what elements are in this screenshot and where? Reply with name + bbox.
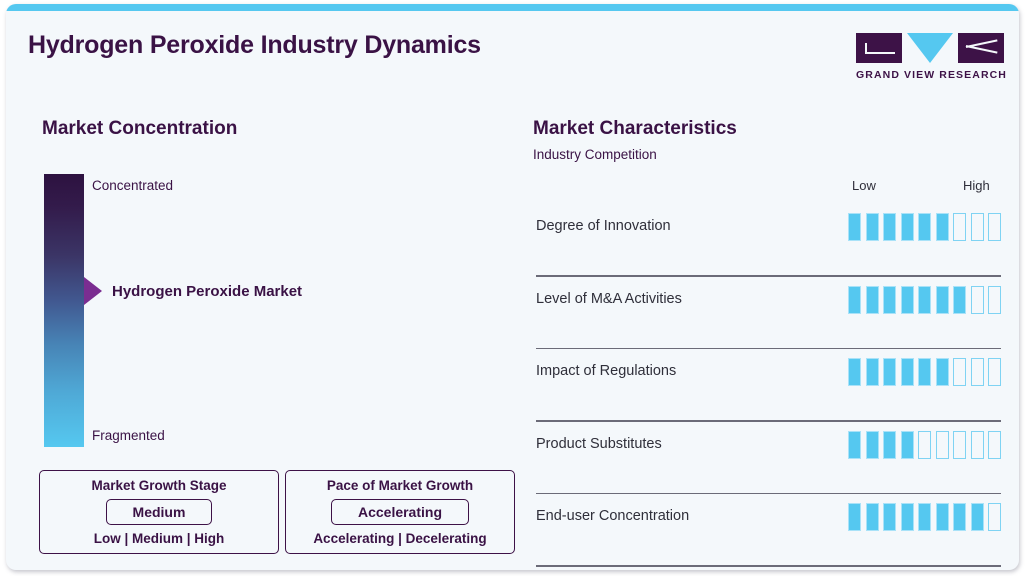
- characteristic-row: Degree of Innovation: [536, 204, 1001, 277]
- rating-meter: [848, 213, 1001, 241]
- rating-segment-filled: [901, 358, 914, 386]
- rating-segment-filled: [866, 213, 879, 241]
- rating-segment-filled: [848, 286, 861, 314]
- characteristic-row: Product Substitutes: [536, 422, 1001, 495]
- page-title: Hydrogen Peroxide Industry Dynamics: [28, 31, 481, 60]
- rating-segment-empty: [953, 358, 966, 386]
- infographic-card: Hydrogen Peroxide Industry Dynamics GRAN…: [6, 4, 1019, 570]
- characteristic-row: Impact of Regulations: [536, 349, 1001, 422]
- characteristic-row: Level of M&A Activities: [536, 277, 1001, 350]
- characteristic-row: End-user Concentration: [536, 494, 1001, 567]
- rating-segment-filled: [918, 286, 931, 314]
- rating-meter: [848, 431, 1001, 459]
- rating-segment-filled: [883, 431, 896, 459]
- axis-label-high: High: [963, 178, 990, 193]
- rating-segment-empty: [988, 286, 1001, 314]
- rating-segment-empty: [953, 431, 966, 459]
- rating-meter: [848, 358, 1001, 386]
- logo-marks: [856, 33, 1004, 63]
- rating-segment-filled: [918, 503, 931, 531]
- rating-segment-empty: [971, 213, 984, 241]
- concentration-gradient-scale: [44, 174, 84, 447]
- rating-segment-filled: [918, 358, 931, 386]
- growth-stage-heading: Market Growth Stage: [91, 478, 226, 493]
- rating-segment-filled: [848, 358, 861, 386]
- market-characteristics-subtitle: Industry Competition: [533, 147, 657, 162]
- pace-heading: Pace of Market Growth: [327, 478, 473, 493]
- rating-segment-filled: [936, 286, 949, 314]
- rating-segment-empty: [953, 213, 966, 241]
- rating-segment-filled: [936, 358, 949, 386]
- rating-segment-filled: [866, 286, 879, 314]
- row-divider: [536, 565, 1001, 567]
- rating-segment-filled: [848, 431, 861, 459]
- growth-stage-value: Medium: [106, 499, 213, 525]
- rating-segment-filled: [901, 286, 914, 314]
- characteristic-label: Product Substitutes: [536, 436, 662, 452]
- rating-segment-empty: [971, 286, 984, 314]
- rating-segment-filled: [866, 431, 879, 459]
- rating-segment-empty: [971, 431, 984, 459]
- rating-meter: [848, 503, 1001, 531]
- rating-segment-empty: [988, 431, 1001, 459]
- characteristic-label: Impact of Regulations: [536, 363, 676, 379]
- logo-left-block-icon: [856, 33, 902, 63]
- logo-triangle-icon: [907, 33, 953, 63]
- rating-segment-empty: [971, 358, 984, 386]
- rating-segment-filled: [901, 213, 914, 241]
- rating-segment-filled: [918, 213, 931, 241]
- rating-meter: [848, 286, 1001, 314]
- logo-right-block-icon: [958, 33, 1004, 63]
- market-growth-stage-box: Market Growth Stage Medium Low | Medium …: [39, 470, 279, 554]
- scale-label-concentrated: Concentrated: [92, 178, 173, 193]
- rating-segment-filled: [936, 213, 949, 241]
- marker-label: Hydrogen Peroxide Market: [112, 283, 302, 300]
- growth-stage-scale: Low | Medium | High: [94, 531, 225, 546]
- rating-segment-filled: [953, 286, 966, 314]
- rating-segment-empty: [936, 431, 949, 459]
- characteristic-label: Degree of Innovation: [536, 218, 671, 234]
- rating-segment-filled: [848, 503, 861, 531]
- rating-segment-filled: [866, 503, 879, 531]
- characteristic-label: End-user Concentration: [536, 508, 689, 524]
- rating-segment-filled: [883, 213, 896, 241]
- rating-segment-filled: [936, 503, 949, 531]
- rating-segment-empty: [988, 358, 1001, 386]
- pace-value: Accelerating: [331, 499, 469, 525]
- rating-segment-filled: [866, 358, 879, 386]
- rating-segment-filled: [953, 503, 966, 531]
- brand-logo: GRAND VIEW RESEARCH: [856, 33, 1004, 81]
- rating-segment-filled: [848, 213, 861, 241]
- characteristic-label: Level of M&A Activities: [536, 291, 682, 307]
- triangle-marker-icon: [84, 277, 102, 305]
- rating-segment-empty: [988, 503, 1001, 531]
- scale-label-fragmented: Fragmented: [92, 428, 165, 443]
- rating-segment-filled: [883, 358, 896, 386]
- pace-of-market-growth-box: Pace of Market Growth Accelerating Accel…: [285, 470, 515, 554]
- market-concentration-title: Market Concentration: [42, 118, 237, 140]
- rating-segment-filled: [883, 503, 896, 531]
- pace-scale: Accelerating | Decelerating: [313, 531, 486, 546]
- rating-segment-filled: [901, 431, 914, 459]
- top-accent-bar: [6, 4, 1019, 11]
- axis-label-low: Low: [852, 178, 876, 193]
- logo-wordmark: GRAND VIEW RESEARCH: [856, 69, 1004, 81]
- concentration-marker: Hydrogen Peroxide Market: [84, 277, 302, 305]
- market-characteristics-title: Market Characteristics: [533, 118, 737, 140]
- rating-segment-filled: [971, 503, 984, 531]
- rating-segment-filled: [901, 503, 914, 531]
- rating-segment-filled: [883, 286, 896, 314]
- rating-segment-empty: [918, 431, 931, 459]
- rating-segment-empty: [988, 213, 1001, 241]
